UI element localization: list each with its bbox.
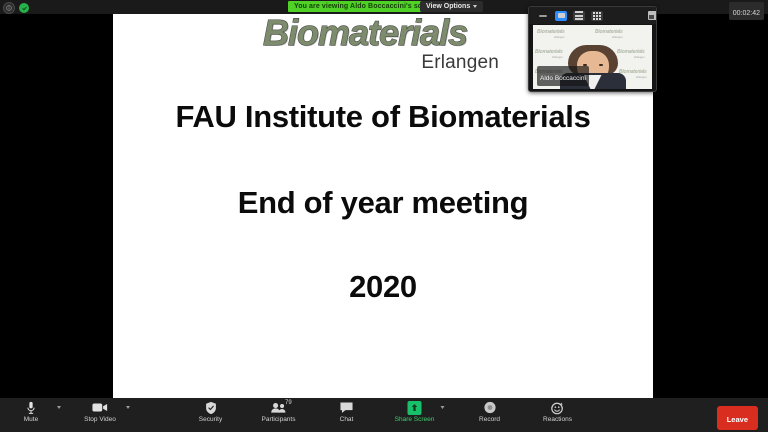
shield-icon [204, 400, 217, 415]
slide-line-3: 2020 [113, 270, 653, 304]
participants-icon: 79 [270, 400, 287, 415]
logo-wordmark: Biomaterials [263, 14, 503, 52]
leave-label: Leave [727, 415, 748, 424]
chevron-up-icon[interactable] [441, 406, 445, 409]
meeting-timer-value: 00:02:42 [733, 10, 760, 17]
gallery-view-icon[interactable] [591, 11, 603, 21]
video-background-watermark: BiomaterialsErlangen [595, 29, 623, 39]
strip-view-icon[interactable] [573, 11, 585, 21]
chevron-up-icon[interactable] [57, 406, 61, 409]
reactions-label: Reactions [543, 416, 572, 424]
chat-label: Chat [340, 416, 354, 424]
video-background-watermark: BiomaterialsErlangen [535, 49, 563, 59]
view-options-label: View Options [426, 3, 470, 10]
chat-bubble-icon [340, 400, 354, 415]
chat-button[interactable]: Chat [324, 400, 370, 424]
participant-name-text: Aldo Boccaccini [540, 75, 586, 82]
participants-label: Participants [262, 416, 296, 424]
share-screen-button[interactable]: Share Screen [392, 400, 445, 424]
screen-share-banner-text: You are viewing Aldo Boccaccini's screen [294, 3, 437, 10]
video-background-watermark: BiomaterialsErlangen [537, 29, 565, 39]
mute-button[interactable]: Mute [8, 400, 61, 424]
shield-check-icon[interactable] [19, 3, 29, 13]
video-camera-icon [92, 400, 108, 415]
reactions-icon [551, 400, 565, 415]
record-button[interactable]: Record [467, 400, 513, 424]
biomaterials-logo: Biomaterials Erlangen [263, 14, 503, 74]
minimize-icon[interactable] [537, 11, 549, 21]
chevron-up-icon[interactable] [126, 406, 130, 409]
self-view-video: BiomaterialsErlangen BiomaterialsErlange… [533, 25, 652, 89]
slide-line-1: FAU Institute of Biomaterials [113, 100, 653, 134]
speaker-view-icon[interactable] [555, 11, 567, 21]
info-icon[interactable] [3, 2, 15, 14]
toolbar-center-group: Security 79 Participants [188, 400, 581, 424]
self-view-panel[interactable]: BiomaterialsErlangen BiomaterialsErlange… [528, 6, 657, 92]
participants-button[interactable]: 79 Participants [256, 400, 302, 424]
top-left-status-icons [3, 2, 29, 14]
view-options-button[interactable]: View Options [420, 1, 483, 12]
share-screen-icon [408, 400, 422, 415]
toolbar-left-group: Mute Stop Video [8, 400, 130, 424]
microphone-icon [26, 400, 36, 415]
record-icon [483, 400, 496, 415]
chevron-down-icon [473, 5, 477, 8]
meeting-toolbar: Mute Stop Video [0, 398, 768, 432]
share-screen-label: Share Screen [395, 416, 435, 424]
logo-subtitle: Erlangen [263, 52, 503, 74]
security-label: Security [199, 416, 222, 424]
reactions-button[interactable]: Reactions [535, 400, 581, 424]
slide-text-block: FAU Institute of Biomaterials End of yea… [113, 100, 653, 304]
zoom-meeting-window: You are viewing Aldo Boccaccini's screen… [0, 0, 768, 432]
security-button[interactable]: Security [188, 400, 234, 424]
meeting-timer: 00:02:42 [729, 2, 764, 20]
participant-name-label: Aldo Boccaccini [537, 66, 589, 86]
slide-line-2: End of year meeting [113, 186, 653, 220]
mute-label: Mute [24, 416, 38, 424]
stop-video-label: Stop Video [84, 416, 116, 424]
leave-button[interactable]: Leave [717, 406, 758, 430]
stop-video-button[interactable]: Stop Video [77, 400, 130, 424]
self-view-layout-controls [529, 7, 657, 24]
participants-count: 79 [285, 400, 292, 406]
exit-fullscreen-icon[interactable] [648, 11, 657, 20]
record-label: Record [479, 416, 500, 424]
